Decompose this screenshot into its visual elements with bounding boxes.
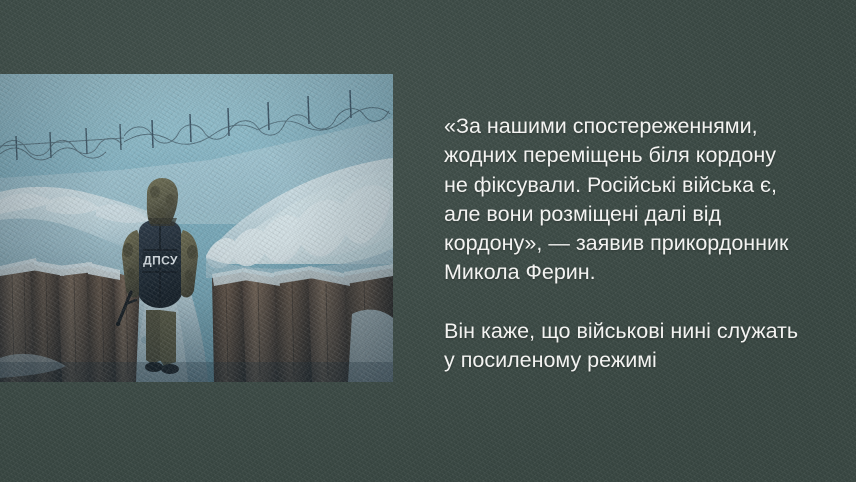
arm-right xyxy=(181,230,198,297)
quote-block: «За нашими спостереженнями, жодних перем… xyxy=(444,112,819,376)
slide-canvas: ДПСУ xyxy=(0,0,856,482)
quote-paragraph-1: «За нашими спостереженнями, жодних перем… xyxy=(444,112,819,288)
quote-paragraph-2: Він каже, що військові нині служать у по… xyxy=(444,317,819,376)
leg-left xyxy=(146,310,162,364)
photo-illustration: ДПСУ xyxy=(0,74,393,382)
trench-photo: ДПСУ xyxy=(0,74,393,382)
dpsu-patch-text: ДПСУ xyxy=(143,253,178,267)
leg-right xyxy=(160,310,176,366)
